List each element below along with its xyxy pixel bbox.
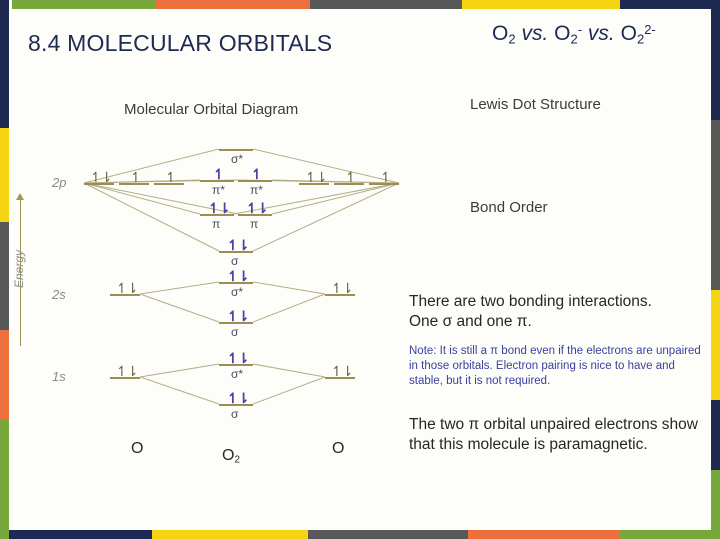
mo-symbol-sigma-star-1s: σ* [231,367,243,381]
mo-symbol-pi-star-2p-b: π* [250,183,263,197]
mo-symbol-sigma-1s: σ [231,407,238,421]
mo-symbol-sigma-2s: σ [231,325,238,339]
molecule-label-symbol: O [222,447,234,464]
mo-pi-star-2p-a-electrons: ↿ [213,167,224,181]
bonding-line-1: There are two bonding interactions. [409,292,709,312]
shell-label-2p: 2p [52,175,66,190]
ao-right-1s-0-electrons: ↿⇂ [331,364,352,378]
ao-right-2p-1-electrons: ↿ [345,170,356,184]
mo-symbol-sigma-2p: σ [231,254,238,268]
mo-symbol-pi-2p-b: π [250,217,258,231]
mo-sigma-star-1s-electrons: ↿⇂ [227,351,248,365]
line-right-1s-to-sigma [253,377,325,404]
mo-pi-2p-b-electrons: ↿⇂ [246,201,267,215]
ao-right-2p-2-electrons: ↿ [380,170,391,184]
correlation-lines [0,0,720,539]
slide-canvas: 8.4 MOLECULAR ORBITALS O2 vs. O2- vs. O2… [0,0,720,539]
atom-label-0: O [131,440,143,458]
bonding-line-2: One σ and one π. [409,312,709,332]
ao-right-2s-0-electrons: ↿⇂ [331,281,352,295]
ao-right-2p-0-electrons: ↿⇂ [305,170,326,184]
bonding-interactions-text: There are two bonding interactions. One … [409,292,709,332]
mo-pi-star-2p-b-electrons: ↿ [251,167,262,181]
ao-left-2p-1-electrons: ↿ [130,170,141,184]
ao-left-2p-0-electrons: ↿⇂ [90,170,111,184]
mo-symbol-sigma-star-2s: σ* [231,285,243,299]
line-left-2s-to-sigma [140,294,219,322]
line-left-1s-to-sigma-star [140,364,219,377]
mo-symbol-pi-star-2p-a: π* [212,183,225,197]
mo-symbol-pi-2p-a: π [212,217,220,231]
atom-label-1: O [332,440,344,458]
molecule-label-subscript: 2 [234,454,240,465]
molecule-label: O2 [222,447,240,465]
shell-label-1s: 1s [52,369,66,384]
mo-sigma-1s-electrons: ↿⇂ [227,391,248,405]
line-left-2s-to-sigma-star [140,282,219,294]
line-right-2s-to-sigma [253,294,325,322]
paramagnetic-text: The two π orbital unpaired electrons sho… [409,415,709,455]
line-right-1s-to-sigma-star [253,364,325,377]
ao-left-1s-0-electrons: ↿⇂ [116,364,137,378]
line-left-2p-to-sigma-2p [84,183,219,251]
line-left-2p-to-pi-2p-a [84,183,200,214]
mo-sigma-2s-electrons: ↿⇂ [227,309,248,323]
mo-sigma-2p-electrons: ↿⇂ [227,238,248,252]
line-right-2p-to-pi-2p-b [272,183,399,214]
line-right-2s-to-sigma-star [253,282,325,294]
mo-sigma-star-2s-electrons: ↿⇂ [227,269,248,283]
note-text: Note: It is still a π bond even if the e… [409,344,711,389]
mo-sigma-star-2p-level [219,149,253,151]
ao-left-2s-0-electrons: ↿⇂ [116,281,137,295]
shell-label-2s: 2s [52,287,66,302]
ao-left-2p-2-electrons: ↿ [165,170,176,184]
line-right-2p-to-sigma-2p [253,183,399,251]
line-left-1s-to-sigma [140,377,219,404]
mo-symbol-sigma-star-2p: σ* [231,152,243,166]
mo-pi-2p-a-electrons: ↿⇂ [208,201,229,215]
